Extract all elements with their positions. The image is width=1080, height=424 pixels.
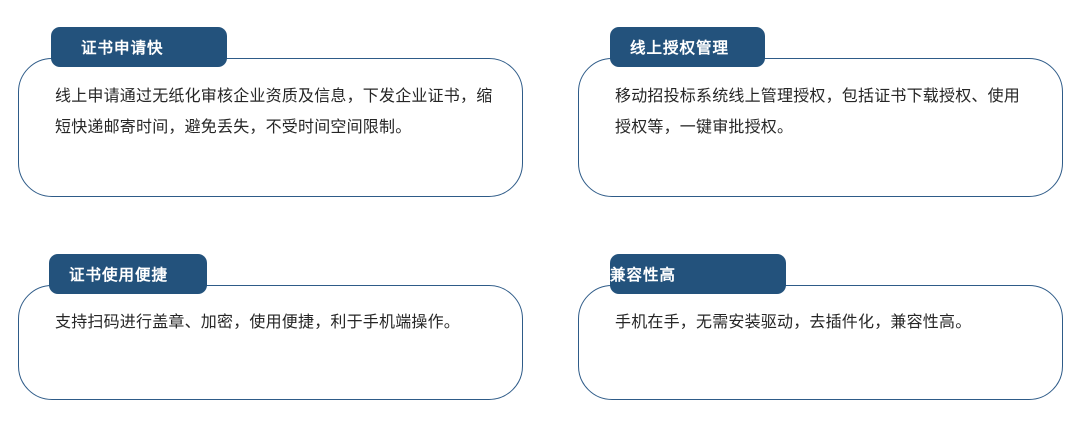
feature-card-body: 手机在手，无需安装驱动，去插件化，兼容性高。 (615, 307, 1034, 338)
feature-card-body: 支持扫码进行盖章、加密，使用便捷，利于手机端操作。 (55, 307, 494, 338)
feature-card-high-compatibility: 手机在手，无需安装驱动，去插件化，兼容性高。 (578, 285, 1063, 400)
feature-card-badge-label: 兼容性高 (610, 263, 786, 285)
feature-card-certificate-application-fast: 线上申请通过无纸化审核企业资质及信息，下发企业证书，缩短快递邮寄时间，避免丢失，… (18, 58, 523, 197)
feature-card-body: 线上申请通过无纸化审核企业资质及信息，下发企业证书，缩短快递邮寄时间，避免丢失，… (55, 81, 494, 143)
feature-card-badge-certificate-use-convenient: 证书使用便捷 (49, 254, 207, 294)
feature-card-certificate-use-convenient: 支持扫码进行盖章、加密，使用便捷，利于手机端操作。 (18, 285, 523, 400)
feature-card-board: 线上申请通过无纸化审核企业资质及信息，下发企业证书，缩短快递邮寄时间，避免丢失，… (0, 0, 1080, 424)
feature-card-badge-label: 证书使用便捷 (69, 263, 207, 285)
feature-card-badge-online-authorization-management: 线上授权管理 (610, 27, 765, 67)
feature-card-badge-high-compatibility: 兼容性高 (610, 254, 786, 294)
feature-card-badge-label: 线上授权管理 (630, 36, 765, 58)
feature-card-badge-certificate-application-fast: 证书申请快 (51, 27, 227, 67)
feature-card-online-authorization-management: 移动招投标系统线上管理授权，包括证书下载授权、使用授权等，一键审批授权。 (578, 58, 1063, 197)
feature-card-body: 移动招投标系统线上管理授权，包括证书下载授权、使用授权等，一键审批授权。 (615, 81, 1034, 143)
feature-card-badge-label: 证书申请快 (81, 36, 227, 58)
